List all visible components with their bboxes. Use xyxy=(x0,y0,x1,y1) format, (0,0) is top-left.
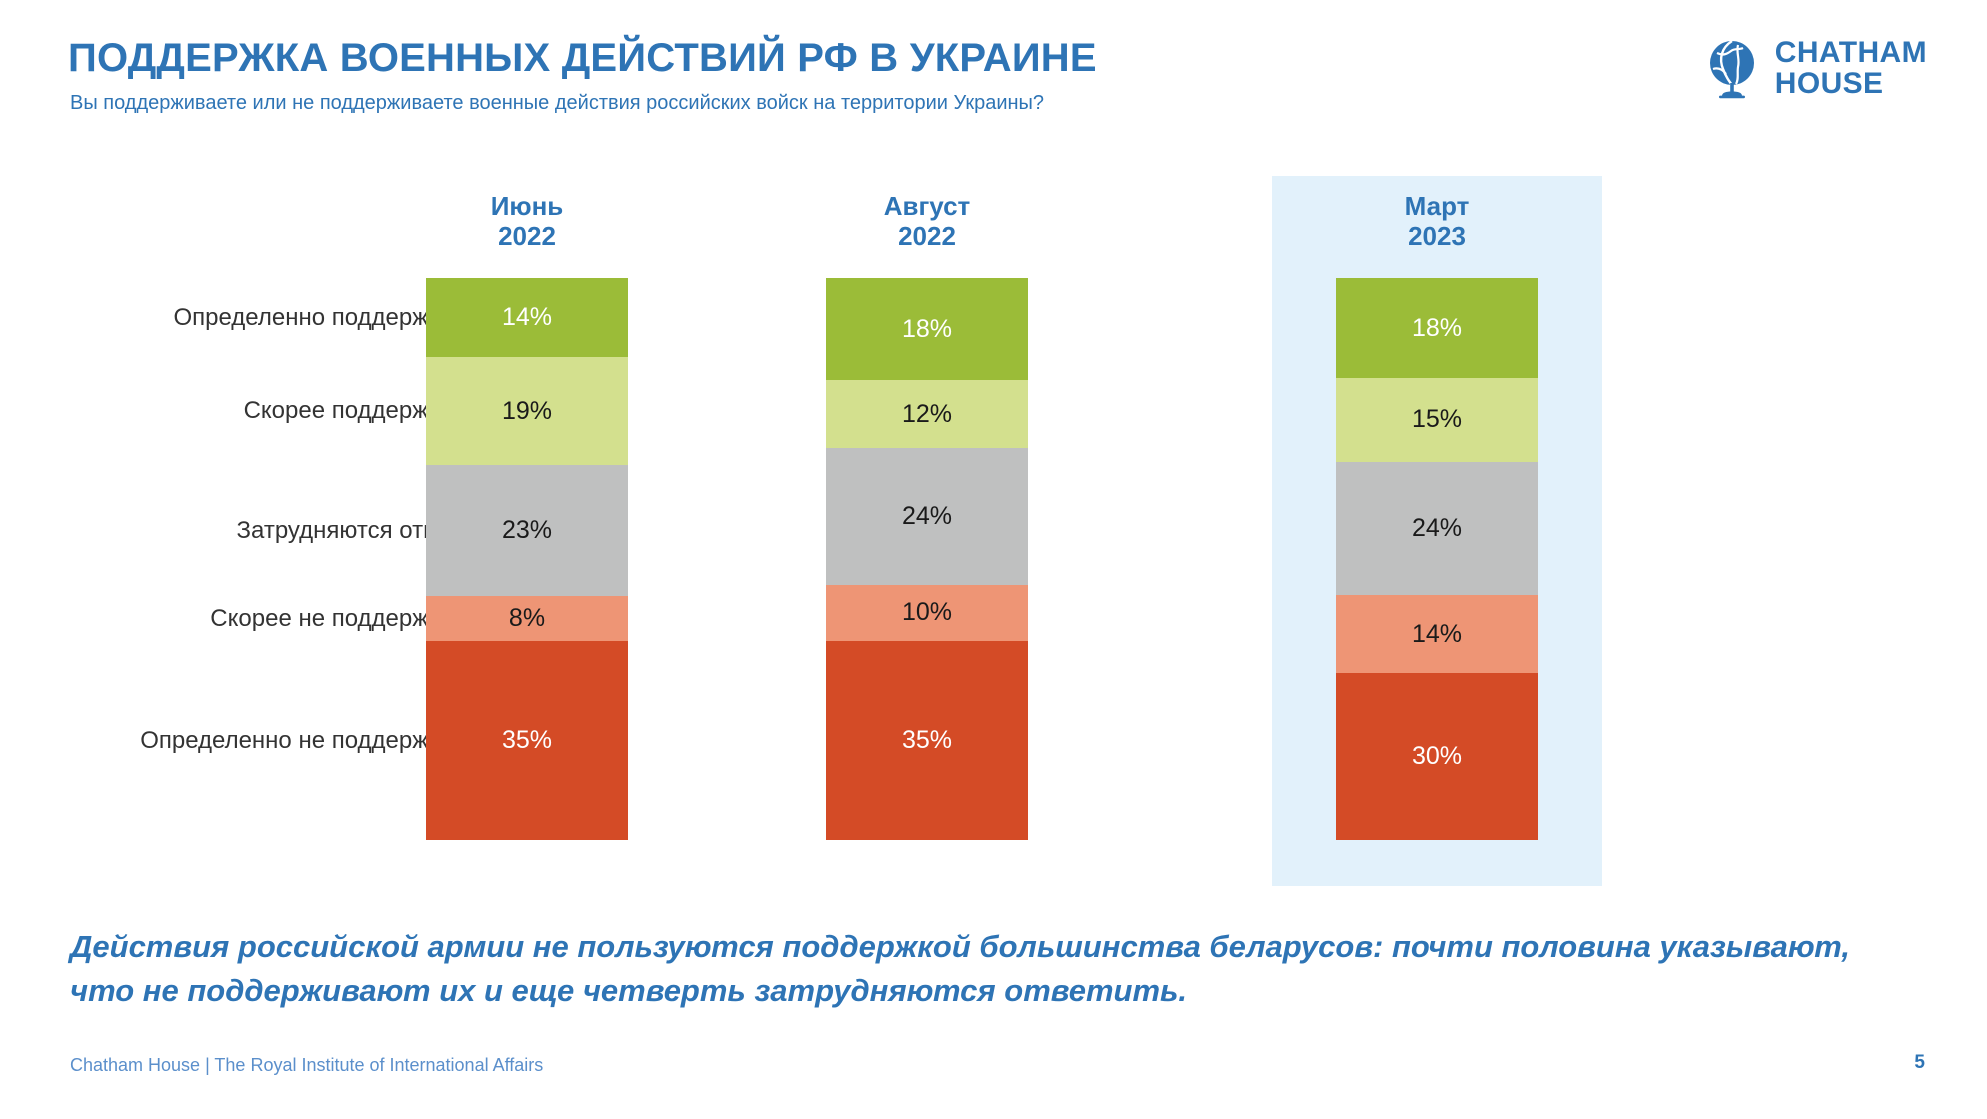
segment-value-label: 14% xyxy=(502,303,552,332)
column-year: 2022 xyxy=(362,222,692,252)
bar-segment: 8% xyxy=(426,596,628,641)
bar-segment: 24% xyxy=(826,448,1028,584)
bar-segment: 12% xyxy=(826,380,1028,448)
column-month: Август xyxy=(762,192,1092,222)
stacked-bar-chart: Определенно поддерживаютСкорее поддержив… xyxy=(0,160,1987,900)
column-month: Март xyxy=(1272,192,1602,222)
page-title: ПОДДЕРЖКА ВОЕННЫХ ДЕЙСТВИЙ РФ В УКРАИНЕ xyxy=(68,36,1097,81)
bar-segment: 35% xyxy=(826,641,1028,840)
slide: ПОДДЕРЖКА ВОЕННЫХ ДЕЙСТВИЙ РФ В УКРАИНЕ … xyxy=(0,0,1987,1119)
bar-segment: 10% xyxy=(826,585,1028,642)
bar-segment: 19% xyxy=(426,357,628,465)
bar-segment: 18% xyxy=(1336,278,1538,378)
segment-value-label: 10% xyxy=(902,598,952,627)
segment-value-label: 30% xyxy=(1412,742,1462,771)
segment-value-label: 18% xyxy=(1412,314,1462,343)
segment-value-label: 19% xyxy=(502,397,552,426)
column-header-0: Июнь2022 xyxy=(362,160,692,252)
segment-value-label: 24% xyxy=(1412,514,1462,543)
page-number: 5 xyxy=(1914,1052,1925,1074)
segment-value-label: 35% xyxy=(502,726,552,755)
bar-segment: 23% xyxy=(426,465,628,596)
conclusion-text: Действия российской армии не пользуются … xyxy=(70,925,1900,1013)
bar-segment: 30% xyxy=(1336,673,1538,840)
segment-value-label: 24% xyxy=(902,502,952,531)
stacked-bar-2: 18%15%24%14%30% xyxy=(1336,278,1538,840)
page-subtitle: Вы поддерживаете или не поддерживаете во… xyxy=(70,92,1044,115)
segment-value-label: 8% xyxy=(509,604,545,633)
logo-wordmark: CHATHAM HOUSE xyxy=(1775,38,1927,99)
bar-column-1: Август202218%12%24%10%35% xyxy=(762,160,1092,252)
globe-icon xyxy=(1705,39,1761,99)
segment-value-label: 15% xyxy=(1412,405,1462,434)
bar-segment: 18% xyxy=(826,278,1028,380)
logo-line-1: CHATHAM xyxy=(1775,36,1927,69)
bar-segment: 15% xyxy=(1336,378,1538,461)
bar-segment: 14% xyxy=(426,278,628,357)
chatham-house-logo: CHATHAM HOUSE xyxy=(1705,38,1927,99)
segment-value-label: 35% xyxy=(902,726,952,755)
segment-value-label: 12% xyxy=(902,400,952,429)
stacked-bar-1: 18%12%24%10%35% xyxy=(826,278,1028,840)
stacked-bar-0: 14%19%23%8%35% xyxy=(426,278,628,840)
segment-value-label: 23% xyxy=(502,516,552,545)
segment-value-label: 18% xyxy=(902,315,952,344)
column-month: Июнь xyxy=(362,192,692,222)
footer-text: Chatham House | The Royal Institute of I… xyxy=(70,1055,543,1076)
bar-segment: 14% xyxy=(1336,595,1538,673)
bar-segment: 35% xyxy=(426,641,628,840)
column-year: 2022 xyxy=(762,222,1092,252)
bar-column-0: Июнь202214%19%23%8%35% xyxy=(362,160,692,252)
bar-segment: 24% xyxy=(1336,462,1538,596)
segment-value-label: 14% xyxy=(1412,620,1462,649)
logo-line-2: HOUSE xyxy=(1775,67,1884,100)
column-header-1: Август2022 xyxy=(762,160,1092,252)
column-year: 2023 xyxy=(1272,222,1602,252)
column-header-2: Март2023 xyxy=(1272,160,1602,252)
bar-column-2: Март202318%15%24%14%30% xyxy=(1272,160,1602,252)
